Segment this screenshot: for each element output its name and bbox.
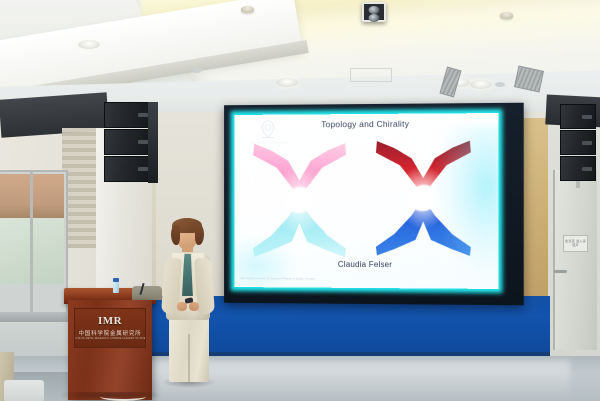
presentation-slide[interactable]: MAX-PLANCK-GESELLSCHAFT Topology and Chi… — [235, 113, 499, 289]
foreground-object — [4, 380, 44, 401]
door-sign: 会议室 进入请轻声 — [563, 235, 588, 252]
smoke-detector-icon — [241, 6, 254, 13]
presenter-hair-left — [171, 225, 180, 245]
loudspeaker-module — [560, 130, 596, 155]
slide-author: Claudia Felser — [235, 259, 499, 269]
ceiling-fitting-icon — [495, 82, 505, 87]
loudspeaker-module — [104, 129, 152, 155]
recessed-downlight-icon — [78, 40, 100, 49]
door-handle[interactable] — [554, 270, 567, 273]
water-bottle-cap — [113, 278, 119, 282]
projector-hotspot — [435, 125, 498, 277]
imr-logo-text: IMR — [98, 316, 122, 327]
presenter — [150, 218, 224, 386]
ceiling-fitting-icon — [192, 68, 202, 73]
loudspeaker-array-right — [560, 104, 596, 182]
door-sign-text: 会议室 进入请轻声 — [564, 240, 587, 248]
loudspeaker-module — [560, 156, 596, 181]
lecture-hall-photo: 会议室 进入请轻声 MAX-PLANCK-GESELLSCHAFT — [0, 0, 600, 401]
presenter-hair-right — [195, 225, 204, 245]
venue-name-english: INSTITUTE OF METAL RESEARCH, CHINESE ACA… — [74, 338, 146, 340]
window-mullion — [30, 172, 33, 312]
loudspeaker-module — [560, 104, 596, 129]
recessed-downlight-icon — [470, 80, 492, 89]
podium-logo-plaque: IMR 中国科学院金属研究所 INSTITUTE OF METAL RESEAR… — [74, 308, 146, 348]
recessed-downlight-icon — [276, 78, 298, 87]
loudspeaker-module — [104, 102, 152, 128]
water-bottle — [113, 281, 119, 293]
smoke-detector-icon — [500, 12, 513, 19]
loudspeaker-module — [104, 156, 152, 182]
ceiling-spotlight-icon — [362, 2, 386, 22]
presenter-trouser-seam — [188, 334, 190, 382]
exit-door[interactable] — [553, 170, 597, 350]
ceiling-access-panel — [350, 68, 392, 82]
loudspeaker-array-left — [104, 102, 152, 183]
venue-name-chinese: 中国科学院金属研究所 — [78, 329, 141, 337]
floor-cable — [100, 392, 146, 401]
window — [0, 170, 68, 320]
presenter-hand-right — [189, 302, 199, 311]
loudspeaker-side — [148, 102, 158, 183]
